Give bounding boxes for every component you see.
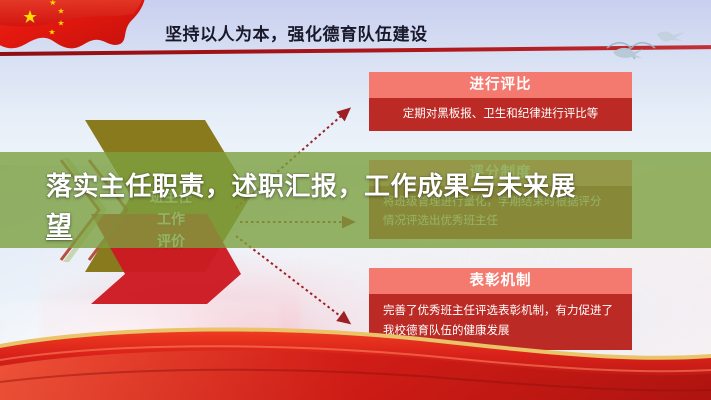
overlay-headline-line1: 落实主任职责，述职汇报，工作成果与未来展: [46, 171, 576, 201]
birds-decoration: [599, 26, 709, 72]
slide-canvas: 坚持以人为本，强化德育队伍建设 班主任 工作 评价: [0, 0, 711, 400]
bottom-red-ribbon: [0, 314, 711, 400]
page-title: 坚持以人为本，强化德育队伍建设: [165, 20, 585, 45]
overlay-headline-line2: 望: [46, 211, 73, 241]
info-card-1-heading: 进行评比: [369, 72, 632, 98]
info-card-1-body: 定期对黑板报、卫生和纪律进行评比等: [369, 98, 632, 131]
chinese-flag-icon: [0, 0, 174, 72]
info-card-1-line1: 定期对黑板报、卫生和纪律进行评比等: [369, 106, 632, 122]
info-card-3-heading: 表彰机制: [369, 268, 632, 294]
info-card-1: 进行评比 定期对黑板报、卫生和纪律进行评比等: [369, 72, 632, 131]
overlay-headline: 落实主任职责，述职汇报，工作成果与未来展 望: [46, 166, 668, 246]
